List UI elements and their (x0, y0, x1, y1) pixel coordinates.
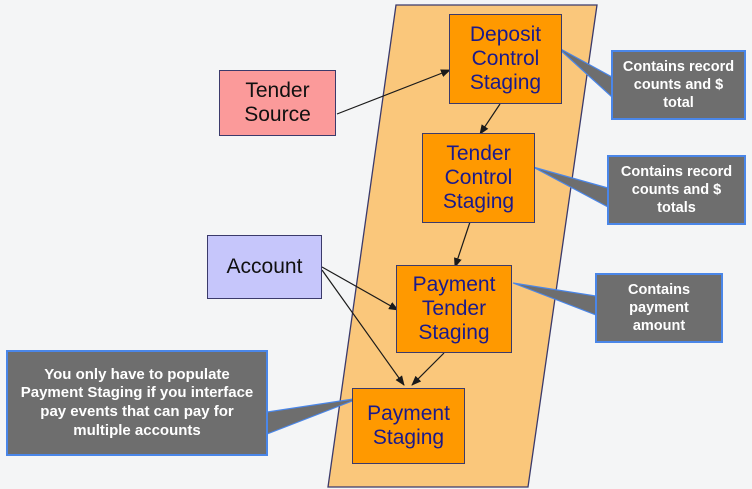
node-label-line: Staging (443, 190, 514, 214)
node-label-line: Payment (413, 273, 496, 297)
callout-text-line: Contains record (623, 59, 734, 75)
diagram-canvas: Deposit Control Staging Tender Control S… (0, 0, 752, 489)
node-payment-staging[interactable]: Payment Staging (352, 388, 465, 464)
callout-payment-staging: You only have to populate Payment Stagin… (6, 350, 268, 456)
callout-text-line: Contains (621, 164, 683, 180)
node-label-line: Account (227, 255, 303, 279)
callout-text-line: amount (633, 318, 685, 334)
callout-text-line: Contains (628, 282, 690, 298)
callout-text-line: Payment Staging if you (21, 384, 187, 401)
node-label-line: Control (470, 47, 541, 71)
node-label-line: Staging (367, 426, 450, 450)
node-label-line: Payment (367, 402, 450, 426)
node-label-line: Staging (470, 71, 541, 95)
callout-text-line: You only have to populate (44, 366, 230, 383)
callout-deposit-control: Contains record counts and $ total (611, 50, 746, 120)
node-payment-tender-staging[interactable]: Payment Tender Staging (396, 265, 512, 353)
node-account[interactable]: Account (207, 235, 322, 299)
callout-text-line: counts and $ (634, 77, 723, 93)
node-label-line: Tender (443, 142, 514, 166)
node-label-line: Deposit (470, 23, 541, 47)
callout-text-line: payment (629, 300, 689, 316)
node-tender-source[interactable]: Tender Source (219, 70, 336, 136)
node-deposit-control-staging[interactable]: Deposit Control Staging (449, 14, 562, 104)
node-tender-control-staging[interactable]: Tender Control Staging (422, 133, 535, 223)
callout-tender-control: Contains record counts and $ totals (607, 155, 746, 225)
node-label-line: Source (244, 103, 311, 127)
node-label-line: Tender (413, 297, 496, 321)
callout-payment-tender: Contains payment amount (595, 273, 723, 343)
node-label-line: Tender (244, 79, 311, 103)
callout-text-line: total (663, 95, 694, 111)
node-label-line: Staging (413, 321, 496, 345)
node-label-line: Control (443, 166, 514, 190)
